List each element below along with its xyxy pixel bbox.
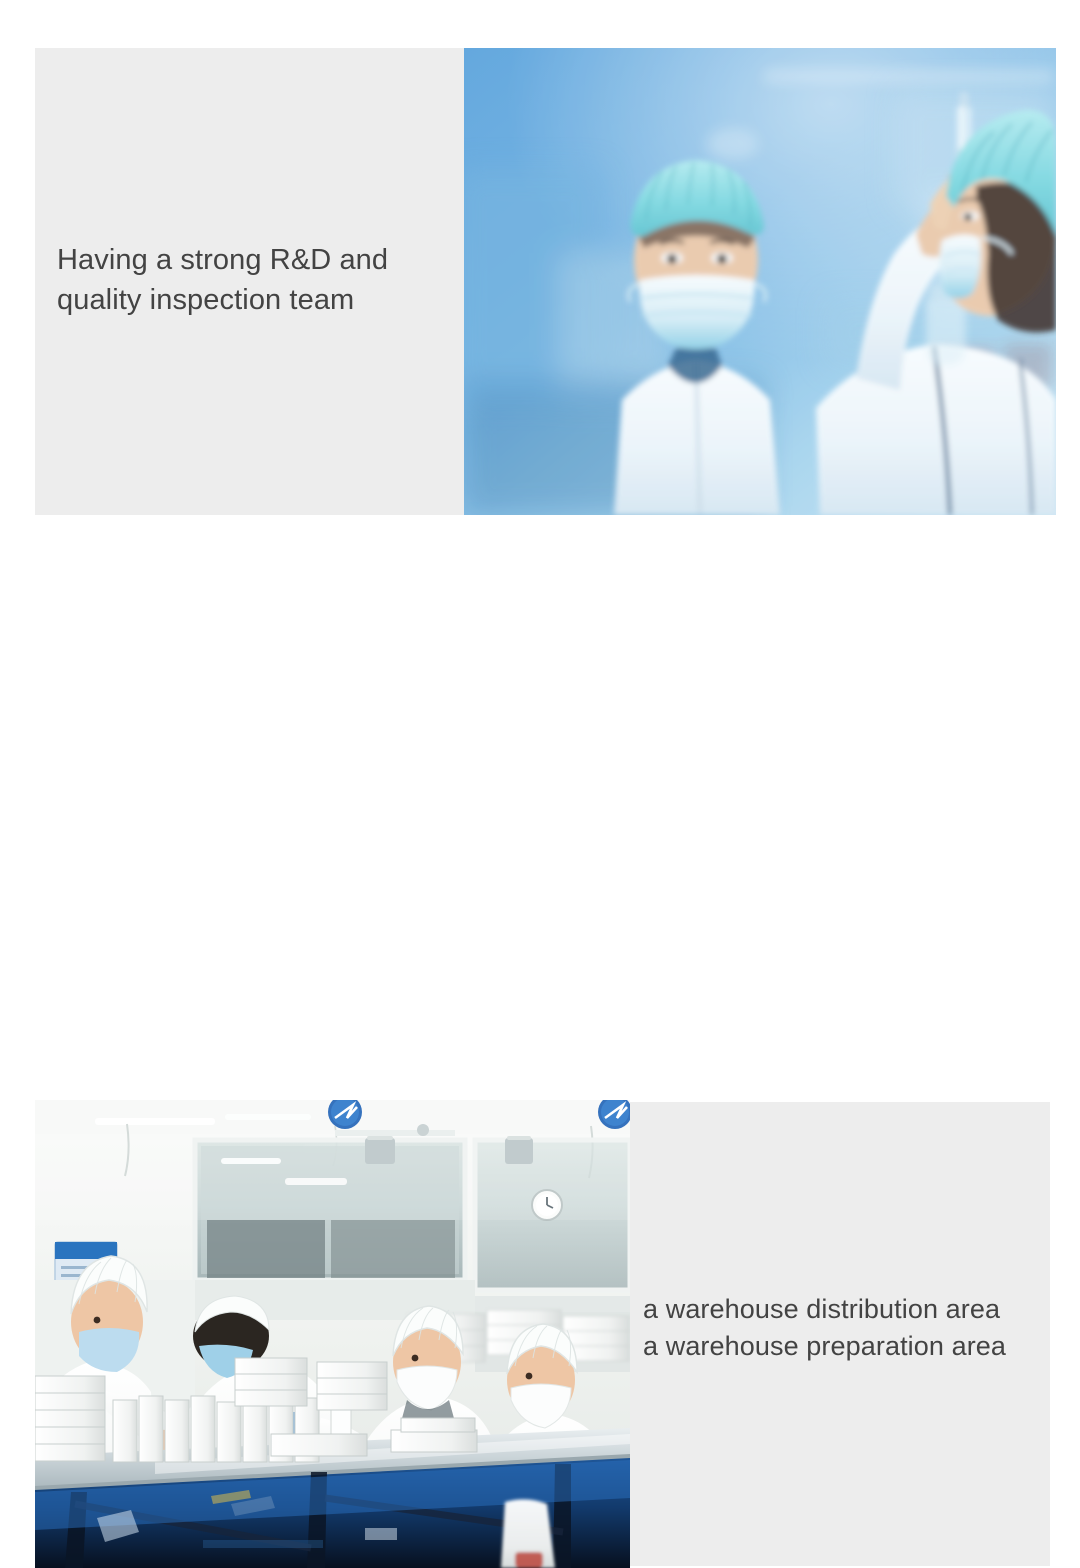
bottom-section: a warehouse distribution area a warehous…: [0, 540, 1080, 1080]
top-caption-text: Having a strong R&D and quality inspecti…: [57, 240, 457, 320]
worker-lower-body-right: [501, 1499, 555, 1568]
top-section: Having a strong R&D and quality inspecti…: [0, 0, 1080, 540]
bottom-caption-text: a warehouse distribution area a warehous…: [643, 1291, 1043, 1365]
rd-quality-inspection-lab-photo: [464, 48, 1056, 515]
lab-photo-illustration: [464, 48, 1056, 515]
warehouse-packing-area-photo: [35, 1100, 630, 1568]
warehouse-photo-illustration: [35, 1100, 630, 1568]
carton-stack-left-table: [35, 1376, 105, 1461]
